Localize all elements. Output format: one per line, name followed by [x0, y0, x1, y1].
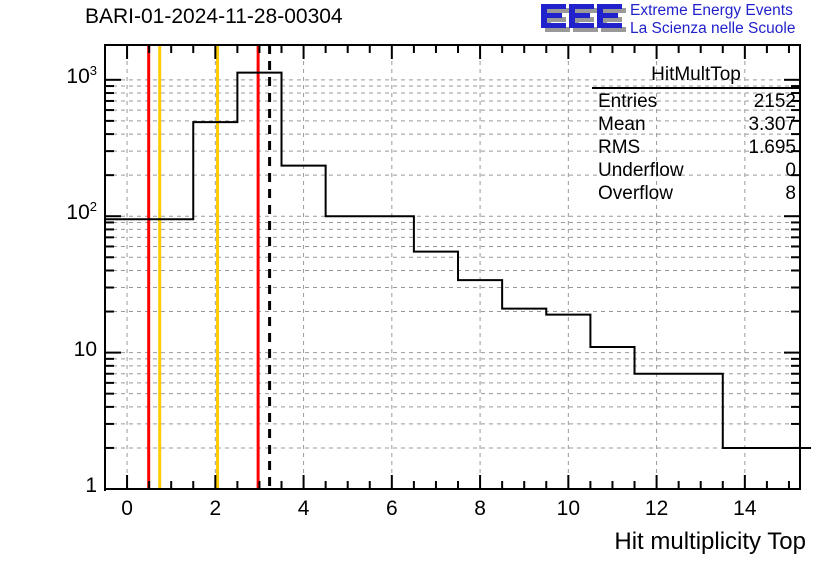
stats-row-name: Entries	[598, 90, 657, 113]
y-tick-label: 1	[85, 474, 97, 498]
x-axis-title: Hit multiplicity Top	[614, 528, 806, 556]
x-tick-label: 12	[627, 497, 687, 521]
stats-row-name: Mean	[598, 113, 646, 136]
stats-row-name: RMS	[598, 136, 640, 159]
stats-row: Underflow0	[592, 159, 800, 182]
stats-title: HitMultTop	[592, 64, 800, 89]
y-tick-label: 10	[74, 338, 97, 362]
stats-row: Mean3.307	[592, 113, 800, 136]
stats-row: Overflow8	[592, 182, 800, 205]
stats-row: RMS1.695	[592, 136, 800, 159]
x-tick-label: 0	[97, 497, 157, 521]
stats-box: HitMultTop Entries2152Mean3.307RMS1.695U…	[592, 64, 800, 205]
stats-row-name: Overflow	[598, 182, 673, 205]
x-tick-label: 8	[450, 497, 510, 521]
x-tick-label: 10	[538, 497, 598, 521]
y-tick-label: 102	[66, 201, 97, 225]
y-tick-label: 103	[66, 65, 97, 89]
x-tick-label: 4	[274, 497, 334, 521]
stats-row-value: 0	[785, 159, 796, 182]
x-tick-label: 2	[185, 497, 245, 521]
stats-row-value: 3.307	[748, 113, 796, 136]
stats-rows: Entries2152Mean3.307RMS1.695Underflow0Ov…	[592, 90, 800, 205]
stats-row-name: Underflow	[598, 159, 684, 182]
stats-row-value: 8	[785, 182, 796, 205]
stats-row: Entries2152	[592, 90, 800, 113]
stats-row-value: 1.695	[748, 136, 796, 159]
x-tick-label: 6	[362, 497, 422, 521]
x-tick-label: 14	[715, 497, 775, 521]
stats-row-value: 2152	[754, 90, 796, 113]
